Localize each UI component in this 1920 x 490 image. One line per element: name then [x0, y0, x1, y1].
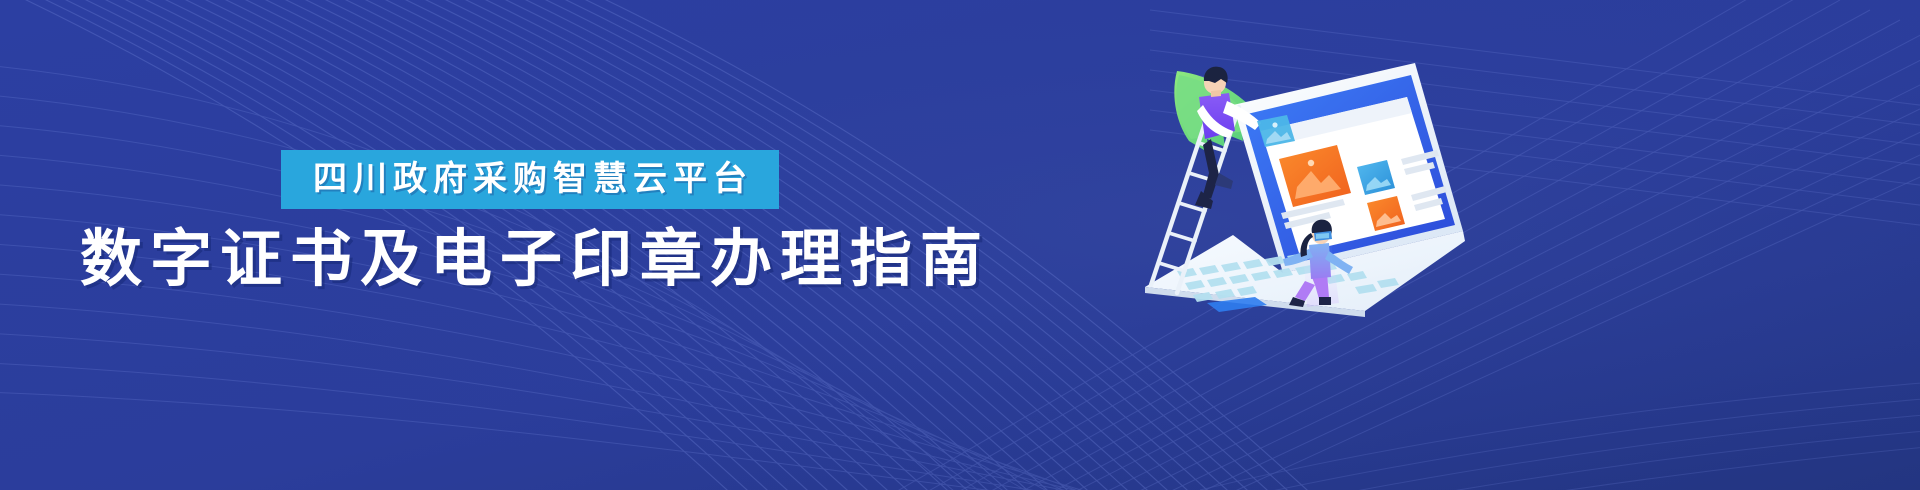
background-line-pattern — [0, 0, 1920, 490]
laptop-illustration — [1115, 35, 1465, 315]
banner: 四川政府采购智慧云平台 数字证书及电子印章办理指南 — [0, 0, 1920, 490]
